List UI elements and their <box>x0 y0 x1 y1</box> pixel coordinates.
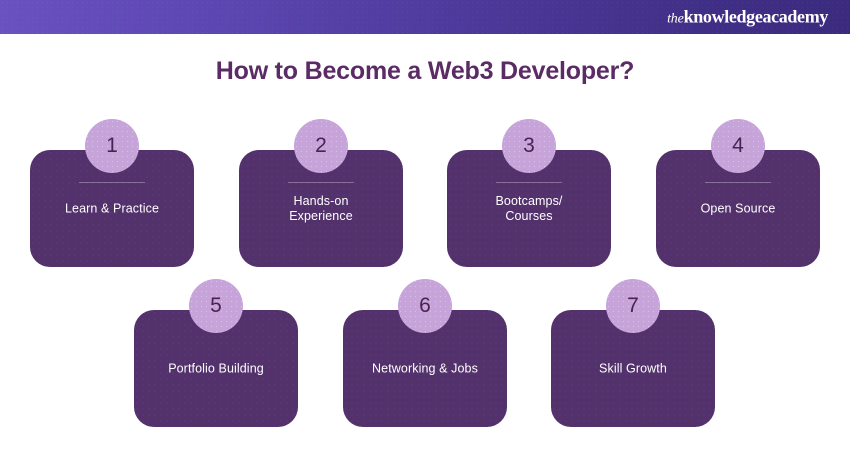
step-card-label: Skill Growth <box>561 361 705 376</box>
step-card-label: Hands-on Experience <box>249 194 393 224</box>
step-number-badge-5: 5 <box>189 279 243 333</box>
step-card-label: Portfolio Building <box>144 361 288 376</box>
step-number-badge-1: 1 <box>85 119 139 173</box>
brand-logo: theknowledgeacademy <box>667 8 828 27</box>
card-divider <box>79 182 145 183</box>
card-divider <box>288 182 354 183</box>
page-title: How to Become a Web3 Developer? <box>0 57 850 86</box>
step-number-badge-6: 6 <box>398 279 452 333</box>
step-card-label: Open Source <box>666 201 810 216</box>
step-card-label: Learn & Practice <box>40 201 184 216</box>
card-divider <box>705 182 771 183</box>
step-number: 7 <box>627 294 639 318</box>
step-card-label: Networking & Jobs <box>353 361 497 376</box>
step-number: 5 <box>210 294 222 318</box>
step-number: 3 <box>523 134 535 158</box>
brand-logo-name: knowledgeacademy <box>684 7 828 27</box>
step-number-badge-4: 4 <box>711 119 765 173</box>
step-card-label: Bootcamps/ Courses <box>457 194 601 224</box>
card-divider <box>496 182 562 183</box>
step-number: 4 <box>732 134 744 158</box>
step-number: 1 <box>106 134 118 158</box>
header-bar: theknowledgeacademy <box>0 0 850 34</box>
step-number: 6 <box>419 294 431 318</box>
step-number: 2 <box>315 134 327 158</box>
step-number-badge-2: 2 <box>294 119 348 173</box>
step-number-badge-3: 3 <box>502 119 556 173</box>
step-number-badge-7: 7 <box>606 279 660 333</box>
brand-logo-prefix: the <box>667 12 684 27</box>
